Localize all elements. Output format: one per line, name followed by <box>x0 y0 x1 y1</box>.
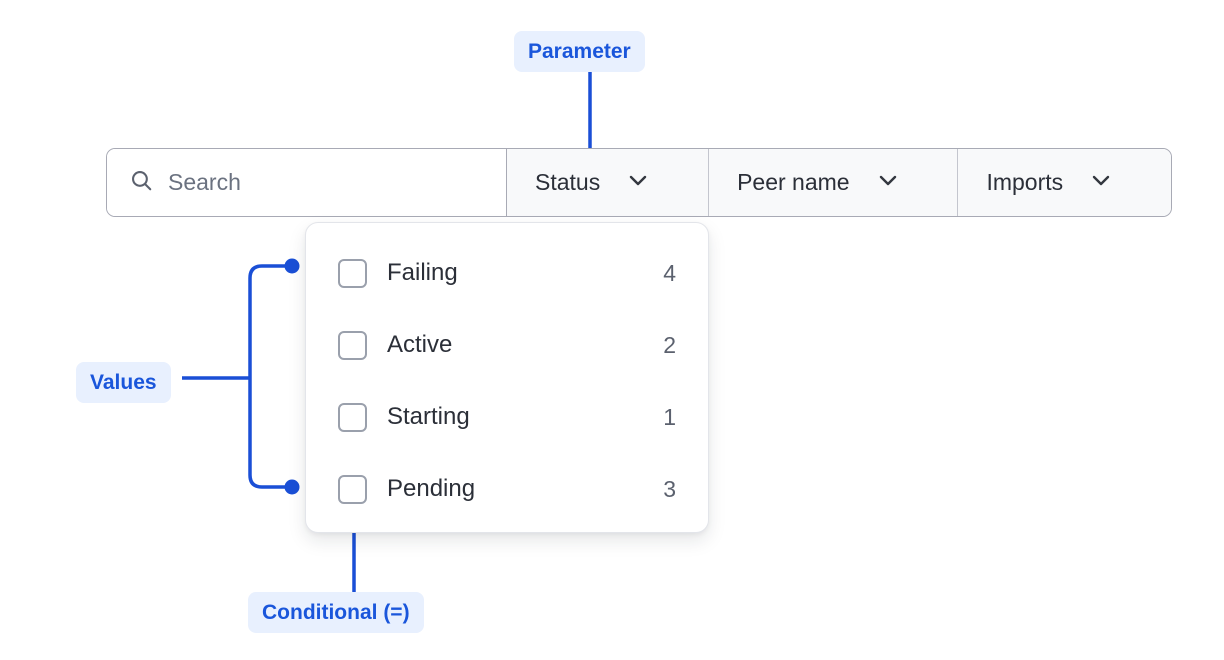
dropdown-option-starting[interactable]: Starting 1 <box>306 381 708 453</box>
filter-label-peer-name: Peer name <box>737 169 850 196</box>
dropdown-option-label: Pending <box>387 475 643 503</box>
filter-bar: Search Status Peer name Imports <box>106 148 1172 217</box>
dropdown-option-label: Active <box>387 331 643 359</box>
checkbox-active[interactable] <box>338 331 367 360</box>
values-bracket-dot-top <box>285 259 300 274</box>
dropdown-option-count: 2 <box>663 332 676 359</box>
annotation-label-parameter: Parameter <box>514 31 645 72</box>
chevron-down-icon <box>876 168 900 198</box>
filter-label-status: Status <box>535 169 600 196</box>
search-input-placeholder: Search <box>168 169 241 196</box>
dropdown-option-active[interactable]: Active 2 <box>306 309 708 381</box>
chevron-down-icon <box>626 168 650 198</box>
annotation-label-conditional: Conditional (=) <box>248 592 424 633</box>
dropdown-option-count: 1 <box>663 404 676 431</box>
checkbox-starting[interactable] <box>338 403 367 432</box>
checkbox-failing[interactable] <box>338 259 367 288</box>
filter-button-status[interactable]: Status <box>507 149 709 216</box>
dropdown-option-pending[interactable]: Pending 3 <box>306 453 708 525</box>
annotation-label-values: Values <box>76 362 171 403</box>
filter-label-imports: Imports <box>986 169 1063 196</box>
filter-button-imports[interactable]: Imports <box>958 149 1171 216</box>
search-icon <box>129 168 154 198</box>
values-bracket <box>250 266 292 487</box>
checkbox-pending[interactable] <box>338 475 367 504</box>
status-filter-dropdown: Failing 4 Active 2 Starting 1 Pending 3 <box>305 222 709 533</box>
dropdown-option-count: 4 <box>663 260 676 287</box>
chevron-down-icon <box>1089 168 1113 198</box>
dropdown-option-failing[interactable]: Failing 4 <box>306 237 708 309</box>
dropdown-option-count: 3 <box>663 476 676 503</box>
filter-button-peer-name[interactable]: Peer name <box>709 149 958 216</box>
dropdown-option-label: Failing <box>387 259 643 287</box>
search-field[interactable]: Search <box>107 149 507 216</box>
annotated-filter-diagram: Parameter Values Conditional (=) Search … <box>0 0 1224 660</box>
dropdown-option-label: Starting <box>387 403 643 431</box>
values-bracket-dot-bottom <box>285 480 300 495</box>
